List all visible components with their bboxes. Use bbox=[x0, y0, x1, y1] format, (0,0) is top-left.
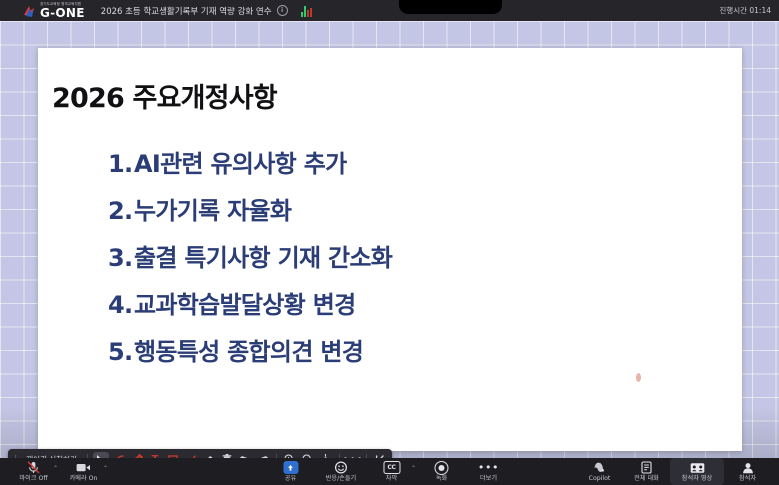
camera-toggle[interactable]: 카메라 On bbox=[60, 458, 107, 485]
closed-caption-icon: CC bbox=[383, 461, 400, 474]
captions-button[interactable]: CC 자막 bbox=[368, 458, 415, 485]
record-label: 녹화 bbox=[436, 475, 447, 482]
list-item-number: 1. bbox=[108, 150, 134, 178]
chat-icon bbox=[641, 461, 653, 474]
session-title: 2026 초등 학교생활기록부 기재 역량 강화 연수 bbox=[101, 5, 272, 17]
list-item-number: 5. bbox=[108, 338, 134, 366]
record-icon bbox=[435, 461, 449, 474]
emoji-reaction-icon bbox=[334, 461, 347, 474]
list-item-text: 누가기록 자율화 bbox=[134, 191, 291, 226]
camera-chevron-down-icon[interactable]: ⌃ bbox=[103, 465, 108, 478]
list-item-text: 출결 특기사항 기재 간소화 bbox=[134, 238, 392, 273]
participants-label: 참석자 bbox=[739, 475, 756, 482]
control-bar-left-group: 마이크 Off ⌃ 카메라 On ⌃ bbox=[10, 458, 110, 485]
list-item-text: 교과학습발달상황 변경 bbox=[134, 285, 355, 320]
participant-video-button[interactable]: 참석자 영상 bbox=[670, 458, 724, 485]
meeting-control-bar: 마이크 Off ⌃ 카메라 On ⌃ bbox=[0, 458, 779, 485]
more-button[interactable]: ••• 더보기 bbox=[465, 458, 512, 485]
slide-title: 2026 주요개정사항 bbox=[52, 76, 277, 115]
presentation-slide: 2026 주요개정사항 1. AI관련 유의사항 추가 2. 누가기록 자율화 … bbox=[38, 48, 742, 451]
list-item-text: 행동특성 종합의견 변경 bbox=[134, 332, 363, 367]
more-horizontal-icon: ••• bbox=[478, 461, 499, 474]
list-item: 1. AI관련 유의사항 추가 bbox=[108, 144, 708, 191]
list-item: 5. 행동특성 종합의견 변경 bbox=[108, 332, 708, 379]
participant-video-label: 참석자 영상 bbox=[682, 475, 712, 482]
reactions-label: 반응/손들기 bbox=[326, 475, 357, 482]
list-item: 2. 누가기록 자율화 bbox=[108, 191, 708, 238]
copilot-button[interactable]: Copilot bbox=[576, 458, 623, 485]
shared-screen-stage: 2026 주요개정사항 1. AI관련 유의사항 추가 2. 누가기록 자율화 … bbox=[0, 21, 779, 458]
brand-logo[interactable]: 경기도교육청 원격교육지원 G-ONE bbox=[22, 3, 85, 19]
microphone-chevron-down-icon[interactable]: ⌃ bbox=[53, 465, 58, 478]
share-button[interactable]: 공유 bbox=[267, 458, 314, 485]
info-icon[interactable]: i bbox=[277, 5, 288, 16]
copilot-label: Copilot bbox=[589, 475, 611, 482]
camera-icon bbox=[76, 461, 91, 474]
share-screen-icon bbox=[283, 461, 298, 474]
chat-label: 전체 대화 bbox=[634, 475, 659, 482]
camera-label: 카메라 On bbox=[70, 475, 98, 482]
annotation-toolbar[interactable]: ⁞ 제어권 신청하기 T bbox=[8, 449, 392, 458]
redaction-overlay bbox=[399, 0, 502, 14]
captions-label: 자막 bbox=[386, 475, 397, 482]
participants-button[interactable]: 참석자 bbox=[724, 458, 771, 485]
list-item: 4. 교과학습발달상황 변경 bbox=[108, 285, 708, 332]
brand-name: G-ONE bbox=[40, 7, 85, 19]
audio-level-icon bbox=[301, 5, 313, 17]
list-item-number: 2. bbox=[108, 197, 134, 225]
list-item-text: AI관련 유의사항 추가 bbox=[134, 144, 346, 179]
captions-chevron-down-icon[interactable]: ⌃ bbox=[411, 465, 416, 478]
annotation-ink-mark bbox=[636, 373, 641, 382]
elapsed-time-label: 진행시간 01:14 bbox=[719, 5, 771, 16]
record-button[interactable]: 녹화 bbox=[418, 458, 465, 485]
bird-logo-icon bbox=[22, 4, 36, 18]
app-header: 경기도교육청 원격교육지원 G-ONE 2026 초등 학교생활기록부 기재 역… bbox=[0, 0, 779, 21]
copilot-icon bbox=[593, 461, 606, 474]
meeting-window: 경기도교육청 원격교육지원 G-ONE 2026 초등 학교생활기록부 기재 역… bbox=[0, 0, 779, 485]
list-item-number: 3. bbox=[108, 244, 134, 272]
list-item-number: 4. bbox=[108, 291, 134, 319]
reactions-button[interactable]: 반응/손들기 bbox=[314, 458, 368, 485]
microphone-muted-icon bbox=[27, 461, 40, 474]
microphone-toggle[interactable]: 마이크 Off bbox=[10, 458, 57, 485]
control-bar-right-group: Copilot 전체 대화 bbox=[576, 458, 771, 485]
share-label: 공유 bbox=[285, 475, 296, 482]
microphone-label: 마이크 Off bbox=[19, 475, 47, 482]
slide-bullet-list: 1. AI관련 유의사항 추가 2. 누가기록 자율화 3. 출결 특기사항 기… bbox=[108, 144, 708, 379]
more-label: 더보기 bbox=[480, 475, 497, 482]
control-bar-center-group: 공유 반응/손들기 CC 자막 ⌃ bbox=[267, 458, 512, 485]
participant-video-icon bbox=[690, 461, 705, 474]
person-icon bbox=[742, 461, 754, 474]
chat-button[interactable]: 전체 대화 bbox=[623, 458, 670, 485]
list-item: 3. 출결 특기사항 기재 간소화 bbox=[108, 238, 708, 285]
